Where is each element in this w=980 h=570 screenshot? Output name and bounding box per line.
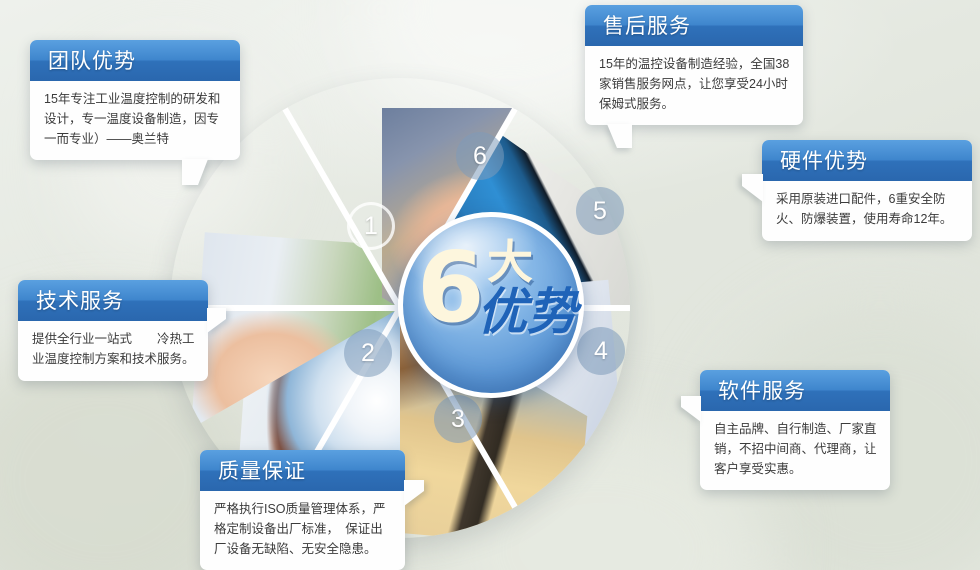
- callout-title: 团队优势: [30, 40, 240, 81]
- callout-tail: [681, 396, 701, 422]
- marker-label: 3: [451, 407, 465, 432]
- callout-body: 提供全行业一站式 冷热工业温度控制方案和技术服务。: [18, 321, 208, 381]
- callout-after-sales-service[interactable]: 售后服务 15年的温控设备制造经验，全国38家销售服务网点，让您享受24小时保姆…: [585, 5, 803, 125]
- marker-1[interactable]: 1: [347, 202, 395, 250]
- marker-2[interactable]: 2: [344, 329, 392, 377]
- callout-tail: [404, 480, 424, 506]
- callout-software-service[interactable]: 软件服务 自主品牌、自行制造、厂家直销，不招中间商、代理商，让客户享受实惠。: [700, 370, 890, 490]
- callout-body: 15年的温控设备制造经验，全国38家销售服务网点，让您享受24小时保姆式服务。: [585, 46, 803, 125]
- callout-hardware-advantage[interactable]: 硬件优势 采用原装进口配件，6重安全防火、防爆装置，使用寿命12年。: [762, 140, 972, 241]
- callout-body: 严格执行ISO质量管理体系，严格定制设备出厂标准， 保证出厂设备无缺陷、无安全隐…: [200, 491, 405, 570]
- marker-label: 1: [364, 214, 378, 239]
- callout-title: 软件服务: [700, 370, 890, 411]
- callout-body: 采用原装进口配件，6重安全防火、防爆装置，使用寿命12年。: [762, 181, 972, 241]
- badge-label: 优势: [477, 287, 577, 337]
- callout-title: 硬件优势: [762, 140, 972, 181]
- callout-body: 自主品牌、自行制造、厂家直销，不招中间商、代理商，让客户享受实惠。: [700, 411, 890, 490]
- marker-3[interactable]: 3: [434, 395, 482, 443]
- callout-tail: [182, 159, 208, 185]
- marker-5[interactable]: 5: [576, 187, 624, 235]
- badge-unit: 大: [487, 239, 533, 285]
- callout-quality-assurance[interactable]: 质量保证 严格执行ISO质量管理体系，严格定制设备出厂标准， 保证出厂设备无缺陷…: [200, 450, 405, 570]
- marker-label: 5: [593, 199, 607, 224]
- callout-team-advantage[interactable]: 团队优势 15年专注工业温度控制的研发和设计，专一温度设备制造，因专一而专业）—…: [30, 40, 240, 160]
- marker-4[interactable]: 4: [577, 327, 625, 375]
- callout-title: 质量保证: [200, 450, 405, 491]
- callout-technical-service[interactable]: 技术服务 提供全行业一站式 冷热工业温度控制方案和技术服务。: [18, 280, 208, 381]
- marker-6[interactable]: 6: [456, 132, 504, 180]
- infographic-canvas: 1 2 3 4 5 6 6 大 优势 团队优势 15年专注工业温度控制的研发和设…: [0, 0, 980, 570]
- marker-label: 4: [594, 339, 608, 364]
- callout-tail: [742, 174, 763, 202]
- marker-label: 2: [361, 341, 375, 366]
- center-badge: 6 大 优势: [398, 212, 584, 398]
- callout-tail: [207, 308, 226, 333]
- callout-title: 技术服务: [18, 280, 208, 321]
- badge-number: 6: [417, 245, 485, 330]
- callout-title: 售后服务: [585, 5, 803, 46]
- callout-tail: [607, 124, 632, 148]
- marker-label: 6: [473, 144, 487, 169]
- callout-body: 15年专注工业温度控制的研发和设计，专一温度设备制造，因专一而专业）——奥兰特: [30, 81, 240, 160]
